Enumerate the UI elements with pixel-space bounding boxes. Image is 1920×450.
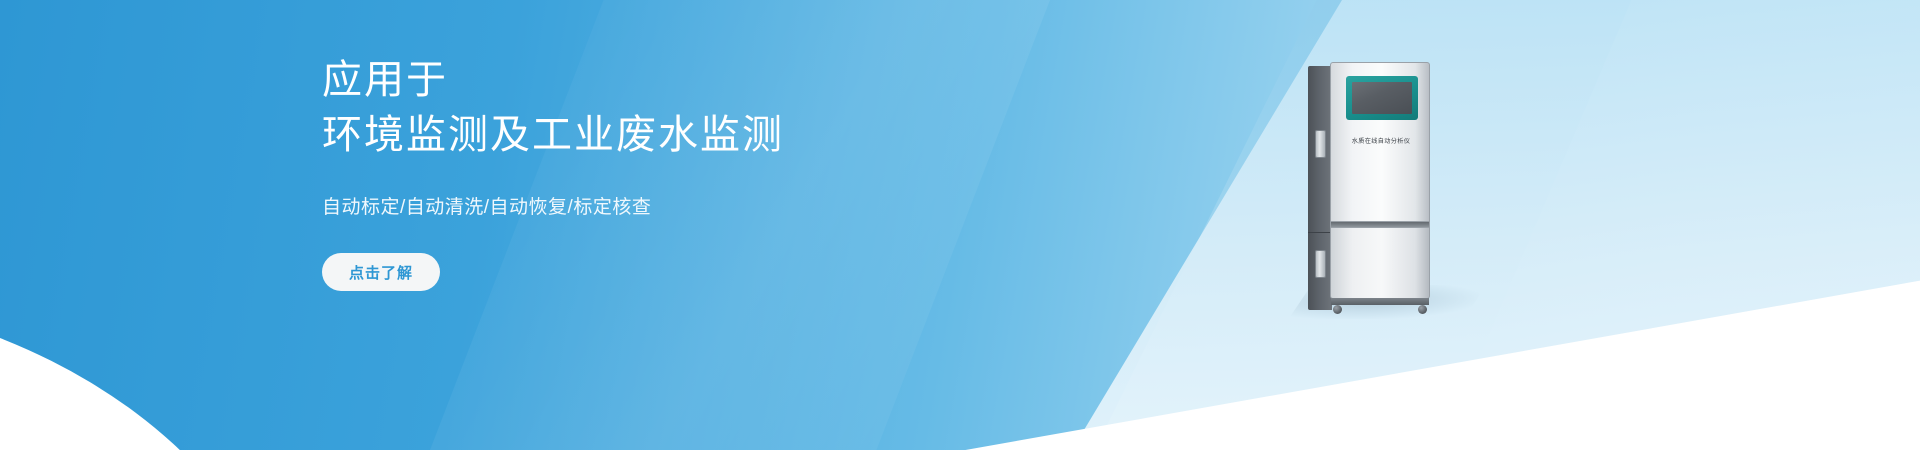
banner-copy-block: 应用于 环境监测及工业废水监测 自动标定/自动清洗/自动恢复/标定核查 点击了解 (322, 52, 962, 291)
device-screen (1352, 82, 1412, 114)
water-quality-analyzer-image: 水质在线自动分析仪 (1308, 62, 1430, 317)
headline-line-1: 应用于 (322, 52, 962, 109)
device-handle-upper (1315, 130, 1326, 158)
device-cabinet-label: 水质在线自动分析仪 (1331, 136, 1431, 145)
device-side-panel (1308, 66, 1332, 310)
device-lower-door (1330, 227, 1430, 299)
banner-subtitle: 自动标定/自动清洗/自动恢复/标定核查 (322, 192, 962, 219)
device-handle-lower (1315, 250, 1326, 278)
device-screen-bezel (1346, 76, 1418, 120)
hero-banner: 应用于 环境监测及工业废水监测 自动标定/自动清洗/自动恢复/标定核查 点击了解… (0, 0, 1920, 450)
device-base (1331, 298, 1429, 305)
device-caster-left (1333, 305, 1342, 314)
device-caster-right (1418, 305, 1427, 314)
headline-line-2: 环境监测及工业废水监测 (322, 107, 962, 164)
device-body: 水质在线自动分析仪 (1330, 62, 1430, 314)
device-side-seam (1308, 232, 1332, 233)
device-upper-door: 水质在线自动分析仪 (1330, 62, 1430, 222)
learn-more-button[interactable]: 点击了解 (322, 253, 440, 291)
